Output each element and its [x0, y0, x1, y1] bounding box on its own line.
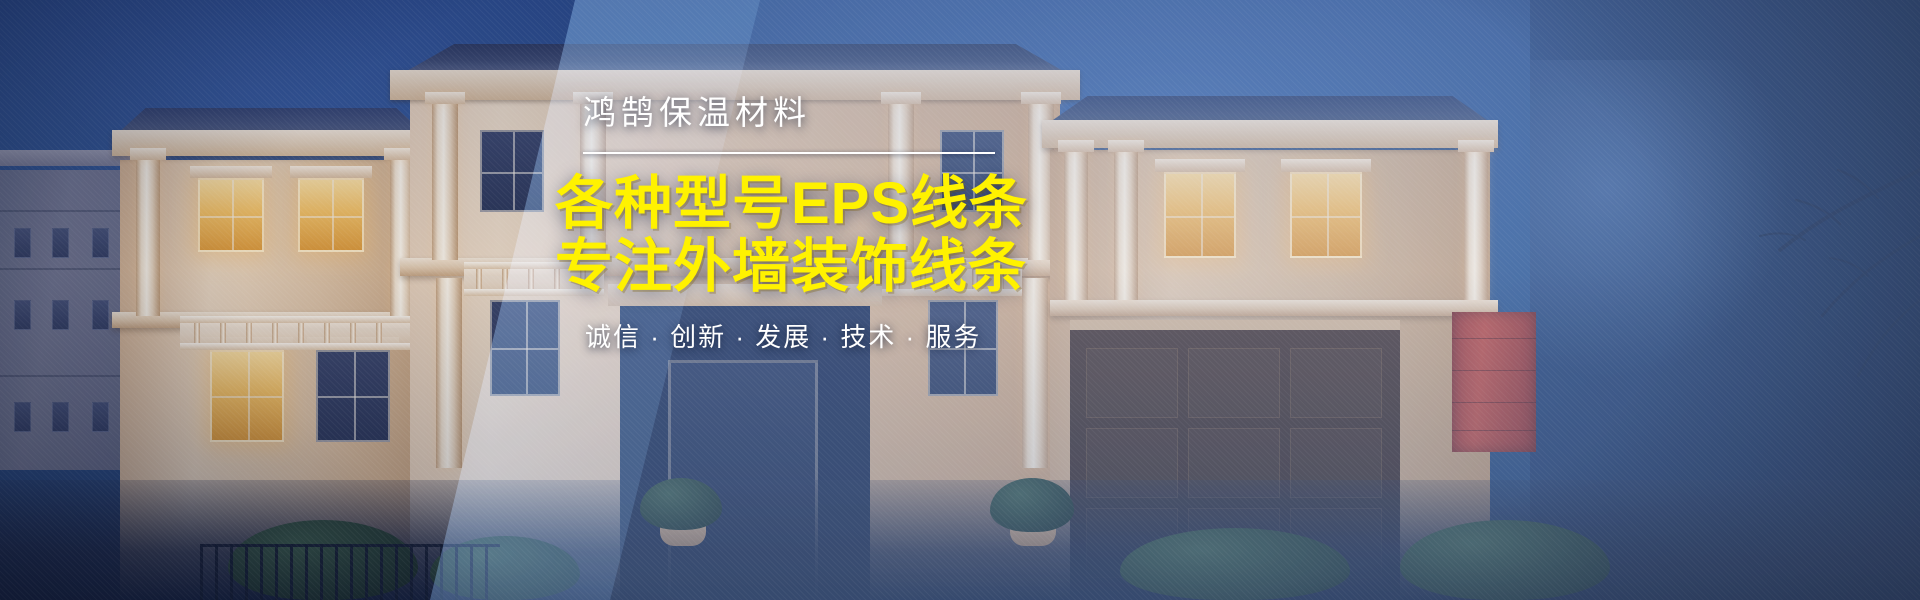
divider-rule [583, 152, 995, 154]
headline: 各种型号EPS线条 专注外墙装饰线条 [555, 172, 1025, 298]
headline-line-2: 专注外墙装饰线条 [555, 235, 1025, 298]
promo-banner: 鸿鹄保温材料 各种型号EPS线条 专注外墙装饰线条 诚信 · 创新 · 发展 ·… [0, 0, 1920, 600]
headline-line-1: 各种型号EPS线条 [555, 171, 1028, 236]
banner-copy-block: 鸿鹄保温材料 各种型号EPS线条 专注外墙装饰线条 诚信 · 创新 · 发展 ·… [555, 96, 1025, 350]
company-name: 鸿鹄保温材料 [555, 96, 1025, 129]
tagline: 诚信 · 创新 · 发展 · 技术 · 服务 [555, 324, 1025, 350]
